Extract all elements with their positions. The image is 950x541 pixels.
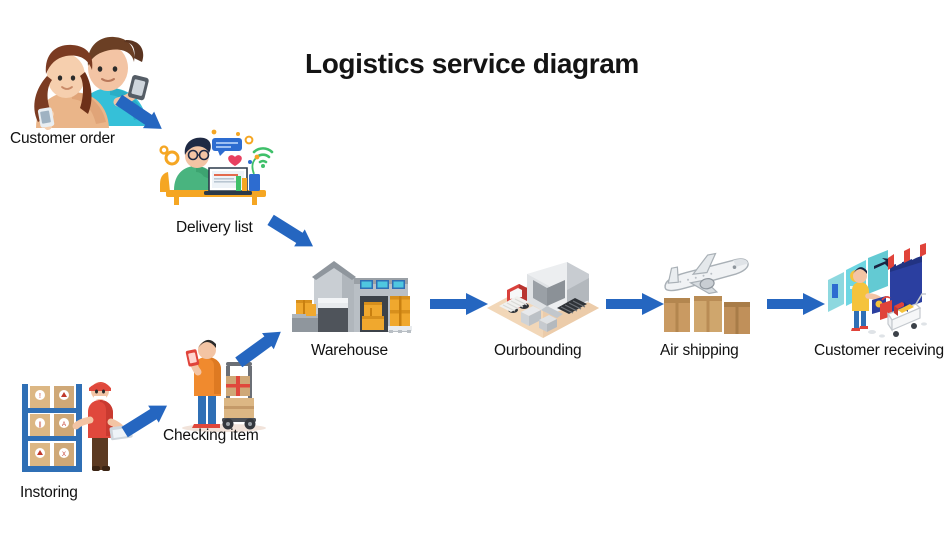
node-label-ourbounding: Ourbounding [494,342,581,360]
person-at-laptop-illustration [152,128,282,218]
worker-at-shelving-illustration: ! || A X [14,378,134,478]
node-label-air-shipping: Air shipping [660,342,739,360]
page-title: Logistics service diagram [305,48,705,80]
diagram-canvas: Logistics service diagram [0,0,950,541]
node-label-delivery-list: Delivery list [176,219,253,237]
node-label-checking-item: Checking item [163,427,259,445]
airplane-with-cartons-icon [650,250,760,336]
node-label-instoring: Instoring [20,484,78,502]
node-label-warehouse: Warehouse [311,342,388,360]
svg-text:A: A [62,422,66,428]
svg-text:!: ! [39,393,41,400]
svg-text:X: X [62,452,66,458]
loading-truck-isometric-icon [483,250,603,340]
shopper-with-cart-illustration [824,252,936,338]
warehouse-building-icon [290,256,416,338]
node-label-customer-receiving: Customer receiving [814,342,944,360]
node-label-customer-order: Customer order [10,130,115,148]
svg-text:||: || [38,422,42,428]
arrow-air-shipping-to-customer-receiving [765,291,829,317]
